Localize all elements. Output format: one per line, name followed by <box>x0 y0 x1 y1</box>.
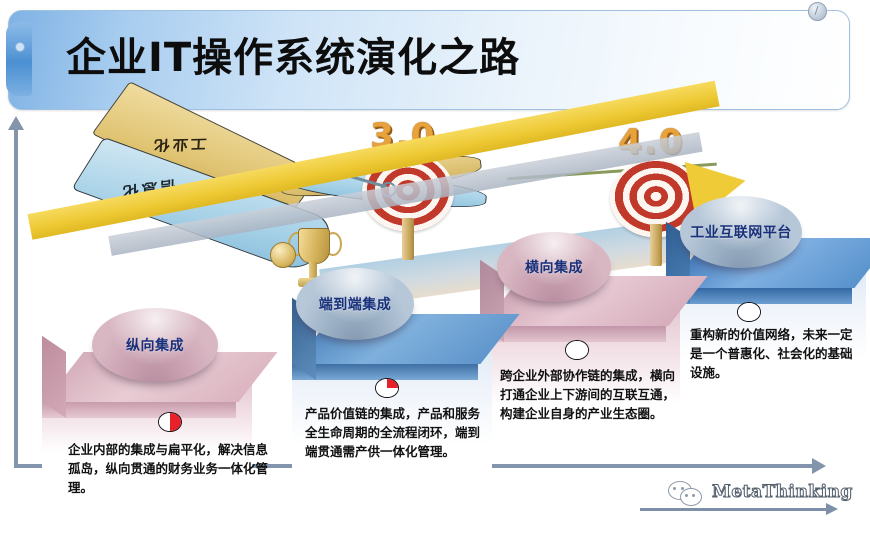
step-4-description: 重构新的价值网络，未来一定是一个普惠化、社会化的基础设施。 <box>690 325 862 382</box>
step-4-orb-label: 工业互联网平台 <box>690 222 792 242</box>
banner-dot-icon <box>15 42 25 52</box>
step-3-orb-label: 横向集成 <box>525 257 583 277</box>
trophy-cup <box>298 228 330 264</box>
pie-empty-icon <box>565 340 589 360</box>
step-2-orb-label: 端到端集成 <box>319 294 392 314</box>
ribbon-gold-label: 工业化 <box>151 134 207 155</box>
wechat-icon <box>668 481 704 505</box>
target-stand <box>650 224 662 266</box>
step-3-orb[interactable]: 横向集成 <box>497 232 611 302</box>
axis-arrow-right-icon <box>812 458 826 474</box>
step-1-orb[interactable]: 纵向集成 <box>92 308 218 382</box>
step-2-orb[interactable]: 端到端集成 <box>296 268 414 340</box>
resize-handle-icon[interactable] <box>808 2 827 21</box>
brand-logo: MetaThinking <box>668 480 848 508</box>
step-1-description: 企业内部的集成与扁平化，解决信息孤岛，纵向贯通的财务业务一体化管理。 <box>68 440 278 497</box>
pie-half-icon <box>158 412 182 432</box>
arrow-right-icon <box>826 503 838 515</box>
pie-empty-icon <box>737 302 761 322</box>
vertical-axis <box>14 128 18 468</box>
gold-ball-icon <box>270 242 296 268</box>
banner-left-cap <box>6 22 32 96</box>
pie-quarter-icon <box>375 378 399 398</box>
wechat-bubble-small <box>680 488 702 506</box>
page-title: 企业IT操作系统演化之路 <box>66 26 520 90</box>
step-1-orb-label: 纵向集成 <box>126 335 184 355</box>
step-2-description: 产品价值链的集成，产品和服务全生命周期的全流程闭环，端到端贯通需产供一体化管理。 <box>305 404 485 461</box>
step-3-description: 跨企业外部协作链的集成，横向打通企业上下游间的互联互通，构建企业自身的产业生态圈… <box>500 366 678 423</box>
footer-rule <box>640 508 828 511</box>
brand-name: MetaThinking <box>712 482 853 502</box>
step-4-orb[interactable]: 工业互联网平台 <box>680 196 802 268</box>
target-stand <box>402 218 414 260</box>
slide-canvas: 企业IT操作系统演化之路 工业化 信息化 3.0 4.0 <box>0 0 870 538</box>
